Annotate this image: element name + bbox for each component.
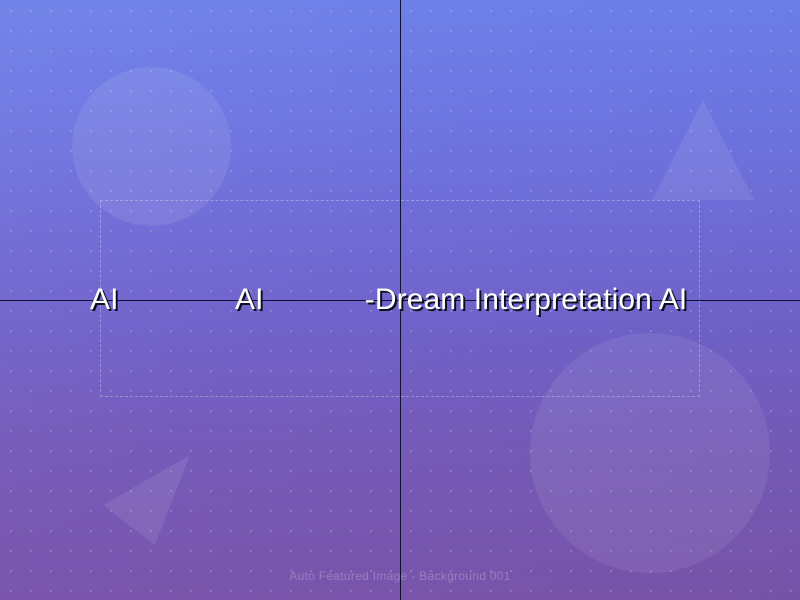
featured-image-canvas: AI AI -Dream Interpretation AI Auto Feat… xyxy=(0,0,800,600)
featured-image-title: AI AI -Dream Interpretation AI xyxy=(90,285,687,315)
title-row: AI AI -Dream Interpretation AI xyxy=(0,0,800,600)
watermark-caption: Auto Featured Image - Background 001 xyxy=(0,569,800,583)
